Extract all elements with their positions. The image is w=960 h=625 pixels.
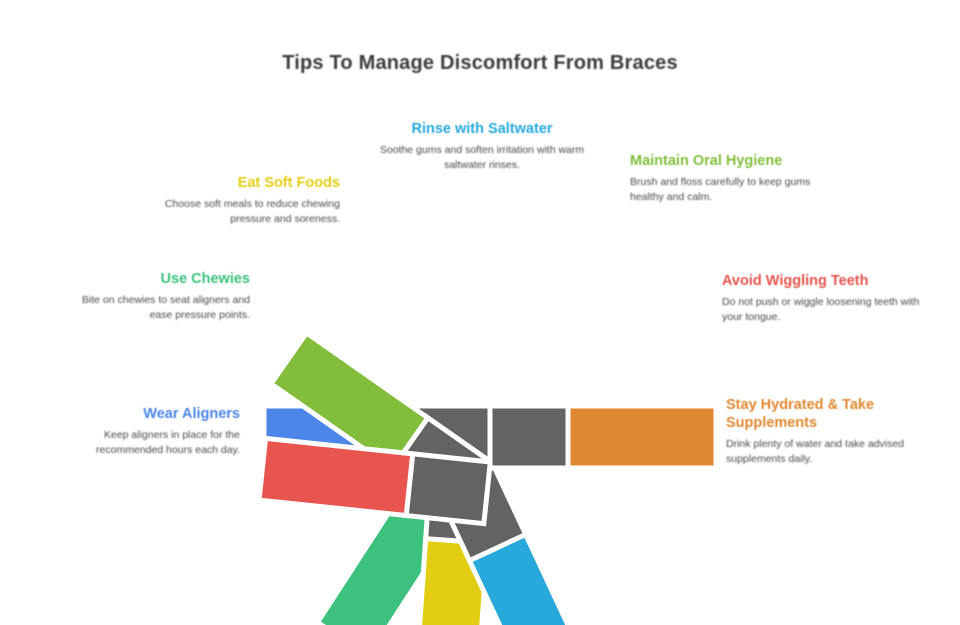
callout-title-chewies: Use Chewies xyxy=(60,270,250,288)
fan-pinwheel-graphic xyxy=(250,210,710,485)
fan-blade-hydration[interactable] xyxy=(490,406,716,468)
callout-hygiene[interactable]: Maintain Oral Hygiene Brush and floss ca… xyxy=(630,152,830,206)
callout-body-aligners: Keep aligners in place for the recommend… xyxy=(40,428,240,458)
callout-body-rinse: Soothe gums and soften irritation with w… xyxy=(368,143,596,173)
callout-body-hydration: Drink plenty of water and take advised s… xyxy=(726,437,926,467)
infographic-canvas: Tips To Manage Discomfort From Braces xyxy=(0,0,960,625)
page-title: Tips To Manage Discomfort From Braces xyxy=(0,52,960,75)
fan-bar-hydration[interactable] xyxy=(568,406,716,468)
callout-chewies[interactable]: Use Chewies Bite on chewies to seat alig… xyxy=(60,270,250,324)
callout-body-chewies: Bite on chewies to seat aligners and eas… xyxy=(60,293,250,323)
callout-wiggling[interactable]: Avoid Wiggling Teeth Do not push or wigg… xyxy=(722,272,922,326)
callout-body-hygiene: Brush and floss carefully to keep gums h… xyxy=(630,175,830,205)
callout-body-wiggling: Do not push or wiggle loosening teeth wi… xyxy=(722,295,922,325)
callout-rinse[interactable]: Rinse with Saltwater Soothe gums and sof… xyxy=(368,120,596,174)
fan-shadow-hydration xyxy=(490,406,570,468)
callout-body-soft-foods: Choose soft meals to reduce chewing pres… xyxy=(140,197,340,227)
callout-title-wiggling: Avoid Wiggling Teeth xyxy=(722,272,922,290)
callout-hydration[interactable]: Stay Hydrated & Take Supplements Drink p… xyxy=(726,396,926,468)
callout-title-aligners: Wear Aligners xyxy=(40,405,240,423)
callout-soft-foods[interactable]: Eat Soft Foods Choose soft meals to redu… xyxy=(140,174,340,228)
fan-shadow-wiggling xyxy=(404,454,490,524)
callout-title-rinse: Rinse with Saltwater xyxy=(368,120,596,138)
callout-title-hygiene: Maintain Oral Hygiene xyxy=(630,152,830,170)
fan-bar-wiggling[interactable] xyxy=(259,438,413,515)
callout-aligners[interactable]: Wear Aligners Keep aligners in place for… xyxy=(40,405,240,459)
fan-blades-group xyxy=(259,333,716,625)
callout-title-hydration: Stay Hydrated & Take Supplements xyxy=(726,396,926,432)
callout-title-soft-foods: Eat Soft Foods xyxy=(140,174,340,192)
